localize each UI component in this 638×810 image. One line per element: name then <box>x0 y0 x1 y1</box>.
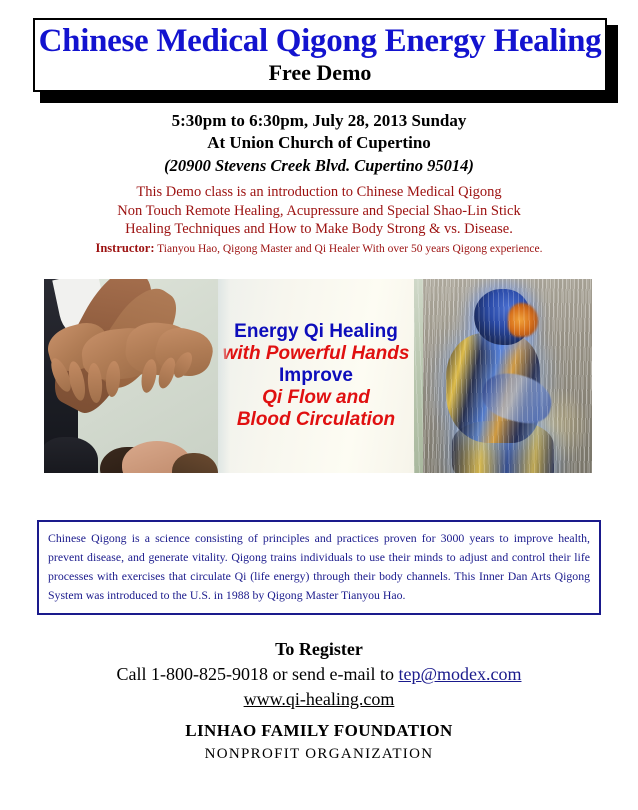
email-link[interactable]: tep@modex.com <box>398 664 521 684</box>
description-line-1: This Demo class is an introduction to Ch… <box>0 183 638 202</box>
page-subtitle: Free Demo <box>269 61 372 85</box>
website-link[interactable]: www.qi-healing.com <box>244 688 395 711</box>
banner-line-2: with Powerful Hands <box>223 344 410 364</box>
register-phone-text: Call 1-800-825-9018 or send e-mail to <box>117 664 399 684</box>
page-title: Chinese Medical Qigong Energy Healing <box>39 25 602 59</box>
instructor-name: Tianyou Hao, Qigong Master and Qi Healer… <box>157 243 542 255</box>
description-line-3: Healing Techniques and How to Make Body … <box>0 220 638 239</box>
banner-line-3: Improve <box>279 366 353 386</box>
registration-section: To Register Call 1-800-825-9018 or send … <box>0 638 638 711</box>
hands-healing-photo <box>44 279 218 473</box>
footer-section: LINHAO FAMILY FOUNDATION NONPROFIT ORGAN… <box>0 720 638 764</box>
register-heading: To Register <box>0 638 638 661</box>
organization-type: NONPROFIT ORGANIZATION <box>0 744 638 764</box>
event-address: (20900 Stevens Creek Blvd. Cupertino 950… <box>0 155 638 177</box>
description-line-2: Non Touch Remote Healing, Acupressure an… <box>0 202 638 221</box>
photo-strip: Energy Qi Healing with Powerful Hands Im… <box>44 279 592 473</box>
banner-line-1: Energy Qi Healing <box>234 322 398 342</box>
aura-figure <box>436 289 556 473</box>
event-details: 5:30pm to 6:30pm, July 28, 2013 Sunday A… <box>0 110 638 177</box>
instructor-line: Instructor: Tianyou Hao, Qigong Master a… <box>0 240 638 257</box>
qigong-paragraph: Chinese Qigong is a science consisting o… <box>48 529 590 605</box>
title-box: Chinese Medical Qigong Energy Healing Fr… <box>33 18 607 92</box>
aura-left-edge <box>414 279 423 473</box>
title-banner: Chinese Medical Qigong Energy Healing Fr… <box>33 18 611 96</box>
organization-name: LINHAO FAMILY FOUNDATION <box>0 720 638 743</box>
register-contact-line: Call 1-800-825-9018 or send e-mail to te… <box>0 663 638 686</box>
instructor-label: Instructor: <box>95 241 154 255</box>
banner-line-4: Qi Flow and <box>262 388 370 408</box>
flyer-page: Chinese Medical Qigong Energy Healing Fr… <box>0 0 638 810</box>
event-venue: At Union Church of Cupertino <box>0 132 638 154</box>
event-time-date: 5:30pm to 6:30pm, July 28, 2013 Sunday <box>0 110 638 132</box>
banner-line-5: Blood Circulation <box>237 410 395 430</box>
class-description: This Demo class is an introduction to Ch… <box>0 183 638 257</box>
qigong-info-box: Chinese Qigong is a science consisting o… <box>37 520 601 615</box>
banner-text-panel: Energy Qi Healing with Powerful Hands Im… <box>218 279 414 473</box>
aura-figure-face <box>508 303 538 337</box>
energy-aura-body-photo <box>414 279 592 473</box>
